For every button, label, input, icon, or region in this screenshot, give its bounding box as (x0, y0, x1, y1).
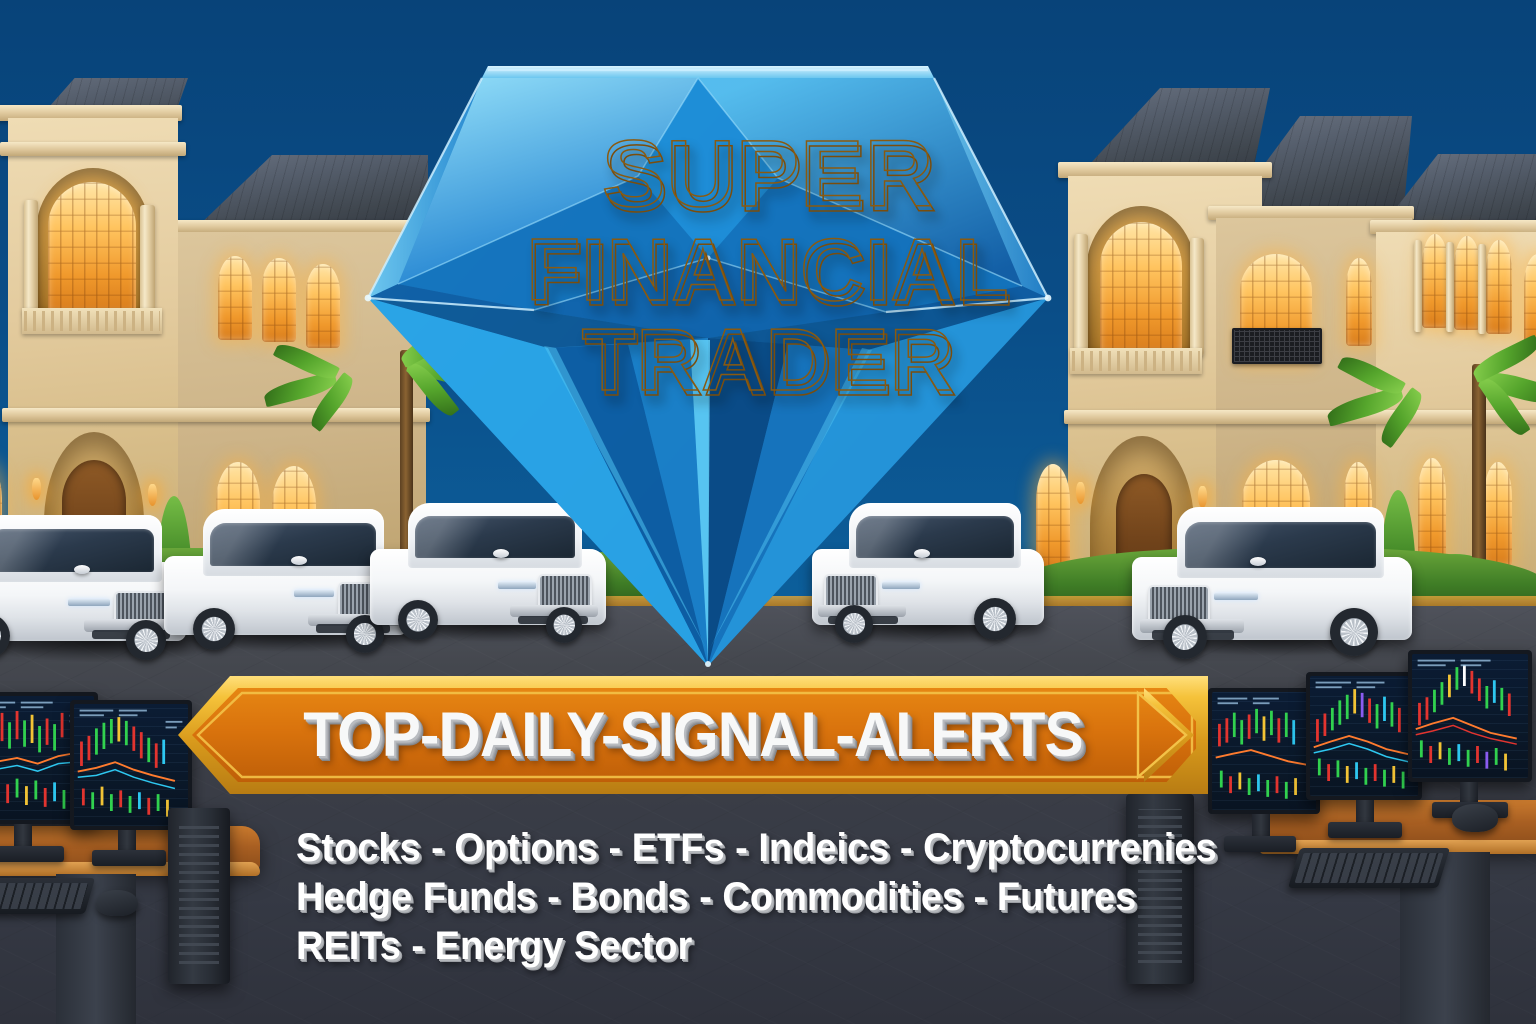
monitor-screen (1212, 692, 1316, 810)
iron-balcony-center (1232, 328, 1322, 364)
palm-right (1420, 290, 1536, 590)
monitor-base-right-2 (1328, 822, 1402, 838)
window-center-small-upper (1346, 258, 1372, 346)
monitor-right-3 (1408, 650, 1532, 782)
luxury-car-1 (0, 512, 186, 652)
window-upper-grand-right (1100, 222, 1182, 352)
asset-line-2: Hedge Funds - Bonds - Commodities - Futu… (296, 873, 1217, 922)
promo-graphic: SUPER FINANCIAL TRADER (0, 0, 1536, 1024)
diamond-logo-shape (338, 48, 1078, 672)
monitor-base-left-1 (0, 846, 64, 862)
monitor-screen (1412, 654, 1528, 778)
column-upper-right (140, 205, 155, 317)
column-upper-right-r (1190, 238, 1204, 356)
signal-alerts-banner[interactable]: TOP-DAILY-SIGNAL-ALERTS (178, 672, 1208, 798)
car-windshield (1185, 522, 1375, 568)
monitor-right-2 (1306, 672, 1422, 800)
window-wing-upper-3 (306, 264, 340, 348)
banner-label: TOP-DAILY-SIGNAL-ALERTS (214, 672, 1172, 798)
balcony-balustrade-right-mansion (1070, 348, 1202, 374)
car-headlight (294, 590, 334, 597)
car-headlight (68, 599, 110, 606)
palm-trunk (1472, 364, 1486, 590)
car-wheel (1163, 615, 1207, 659)
sconce-left (32, 478, 41, 500)
column-upper-left (24, 200, 38, 316)
cornice-porch (0, 142, 186, 156)
asset-line-3: REITs - Energy Sector (296, 922, 1217, 971)
car-side-mirror (74, 565, 90, 574)
car-wheel (193, 608, 235, 650)
car-headlight (1214, 593, 1258, 600)
sconce-right (148, 484, 157, 506)
window-wing-upper-1 (218, 256, 252, 340)
mouse-right (1452, 804, 1498, 832)
pc-tower-left (168, 808, 230, 984)
monitor-screen (1310, 676, 1418, 796)
monitor-base-left-2 (92, 850, 166, 866)
window-upper-grand (48, 182, 136, 312)
mouse-left (96, 890, 138, 916)
car-side-mirror (1250, 557, 1266, 566)
balcony-balustrade-upper (22, 308, 162, 334)
car-wheel (1330, 608, 1378, 656)
keyboard-right (1288, 848, 1450, 888)
luxury-car-5 (1132, 504, 1412, 652)
window-wing-upper-2 (262, 258, 296, 342)
asset-line-1: Stocks - Options - ETFs - Indeics - Cryp… (296, 824, 1217, 873)
keyboard-left (0, 878, 95, 914)
asset-class-list: Stocks - Options - ETFs - Indeics - Cryp… (296, 824, 1265, 970)
monitor-right-1 (1208, 688, 1320, 814)
